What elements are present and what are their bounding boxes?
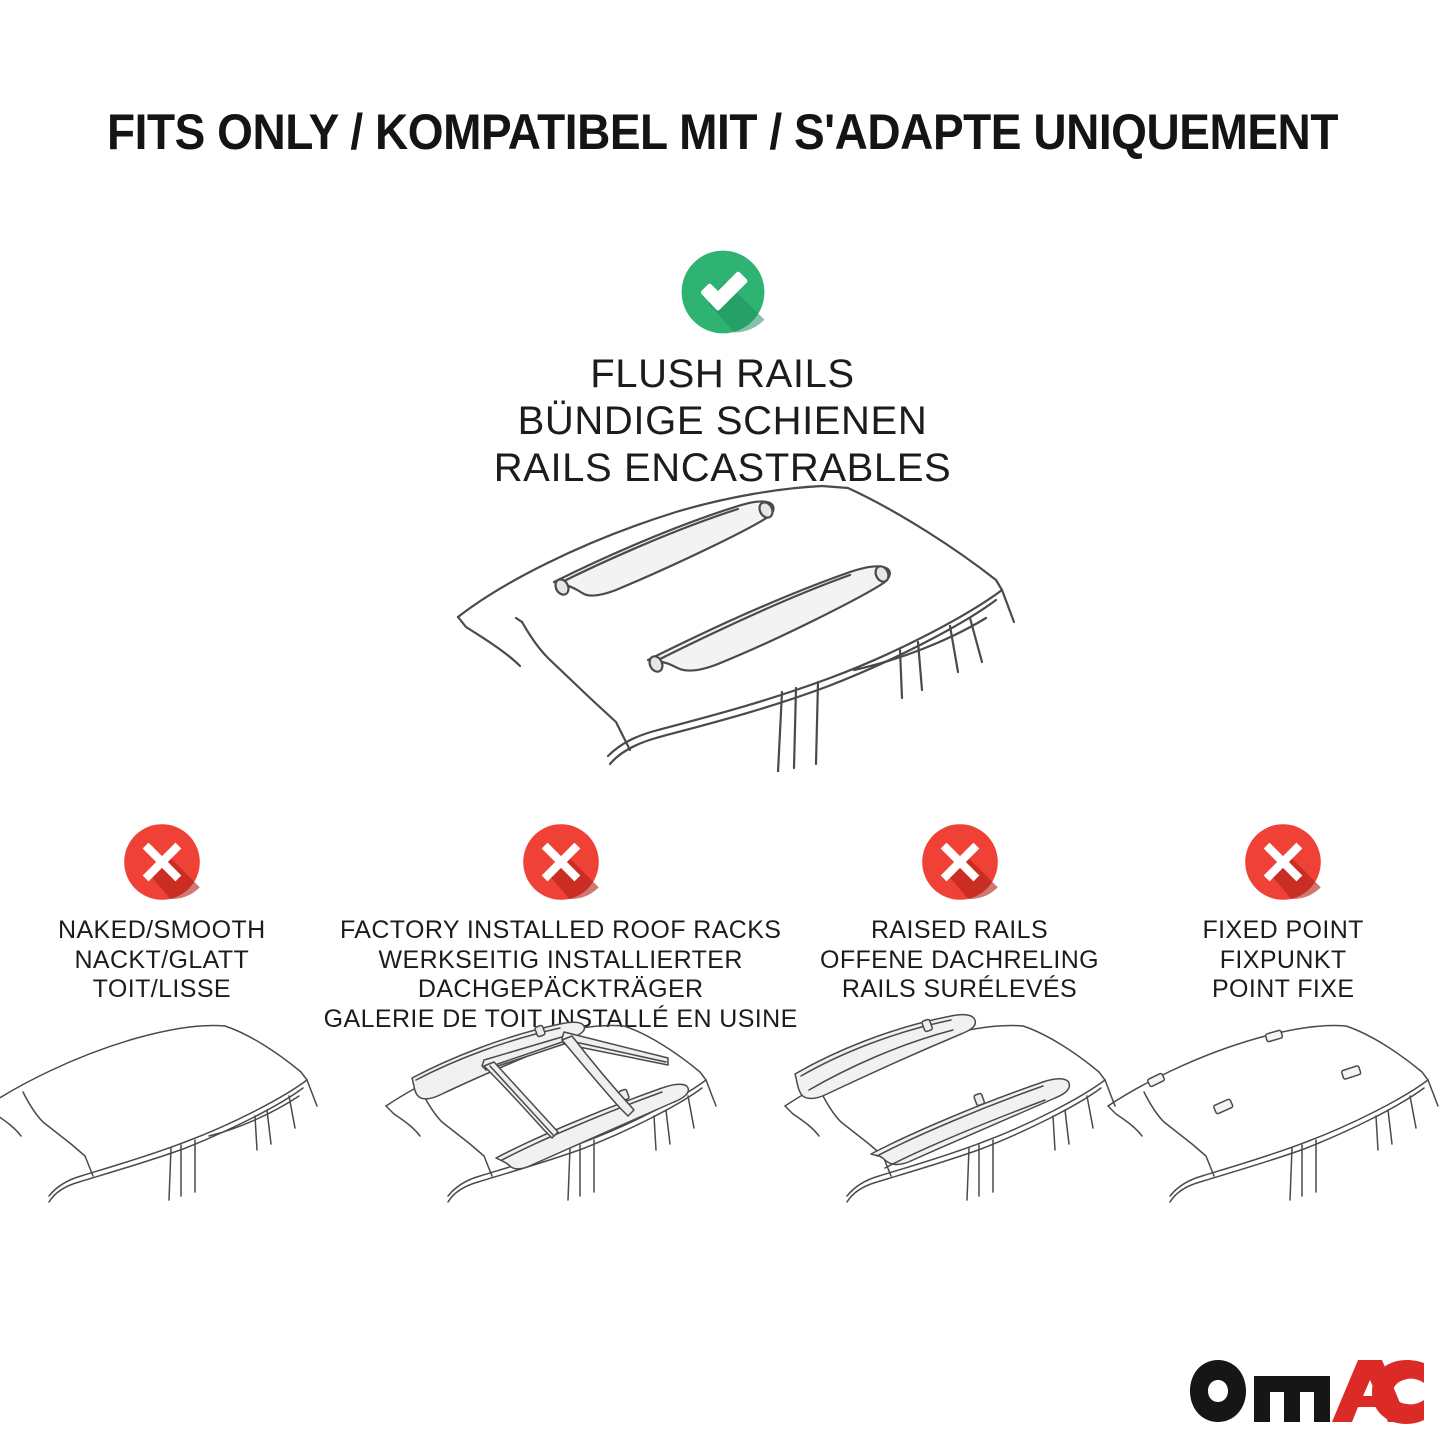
rejected-label-fr: TOIT/LISSE <box>58 975 266 1005</box>
approved-label-en: FLUSH RAILS <box>494 351 952 398</box>
rejected-label-de: FIXPUNKT <box>1203 946 1364 976</box>
approved-labels: FLUSH RAILS BÜNDIGE SCHIENEN RAILS ENCAS… <box>494 351 952 491</box>
rejected-section: NAKED/SMOOTH NACKT/GLATT TOIT/LISSE <box>0 820 1445 1240</box>
compatibility-infographic: FITS ONLY / KOMPATIBEL MIT / S'ADAPTE UN… <box>0 0 1445 1445</box>
rejected-label-en: NAKED/SMOOTH <box>58 916 266 946</box>
x-circle-icon <box>918 820 1002 904</box>
car-roof-raised-rails-illustration <box>775 1010 1145 1220</box>
page-title: FITS ONLY / KOMPATIBEL MIT / S'ADAPTE UN… <box>58 103 1387 161</box>
x-circle-icon <box>519 820 603 904</box>
rejected-column-raised-rails: RAISED RAILS OFFENE DACHRELING RAILS SUR… <box>798 820 1122 1240</box>
rejected-labels: NAKED/SMOOTH NACKT/GLATT TOIT/LISSE <box>58 916 266 1005</box>
rejected-label-fr: RAILS SURÉLEVÉS <box>820 975 1099 1005</box>
car-roof-naked-illustration <box>0 1010 347 1220</box>
rejected-label-de-2: DACHGEPÄCKTRÄGER <box>324 975 798 1005</box>
rejected-labels: FIXED POINT FIXPUNKT POINT FIXE <box>1203 916 1364 1005</box>
rejected-label-fr: POINT FIXE <box>1203 975 1364 1005</box>
omac-logo <box>1182 1352 1432 1430</box>
car-roof-flush-rails-illustration <box>430 472 1030 772</box>
approved-label-de: BÜNDIGE SCHIENEN <box>494 398 952 445</box>
check-circle-icon <box>677 246 769 338</box>
rejected-column-fixed-point: FIXED POINT FIXPUNKT POINT FIXE <box>1121 820 1445 1240</box>
car-roof-fixed-point-illustration <box>1098 1010 1445 1220</box>
rejected-label-de-1: WERKSEITIG INSTALLIERTER <box>324 946 798 976</box>
approved-section: FLUSH RAILS BÜNDIGE SCHIENEN RAILS ENCAS… <box>0 246 1445 491</box>
rejected-label-en: FIXED POINT <box>1203 916 1364 946</box>
rejected-labels: RAISED RAILS OFFENE DACHRELING RAILS SUR… <box>820 916 1099 1005</box>
x-circle-icon <box>120 820 204 904</box>
x-circle-icon <box>1241 820 1325 904</box>
rejected-column-naked-smooth: NAKED/SMOOTH NACKT/GLATT TOIT/LISSE <box>0 820 324 1240</box>
rejected-column-factory-racks: FACTORY INSTALLED ROOF RACKS WERKSEITIG … <box>324 820 798 1240</box>
rejected-label-de: OFFENE DACHRELING <box>820 946 1099 976</box>
rejected-label-en: FACTORY INSTALLED ROOF RACKS <box>324 916 798 946</box>
rejected-label-de: NACKT/GLATT <box>58 946 266 976</box>
car-roof-factory-racks-illustration <box>376 1010 746 1220</box>
rejected-label-en: RAISED RAILS <box>820 916 1099 946</box>
